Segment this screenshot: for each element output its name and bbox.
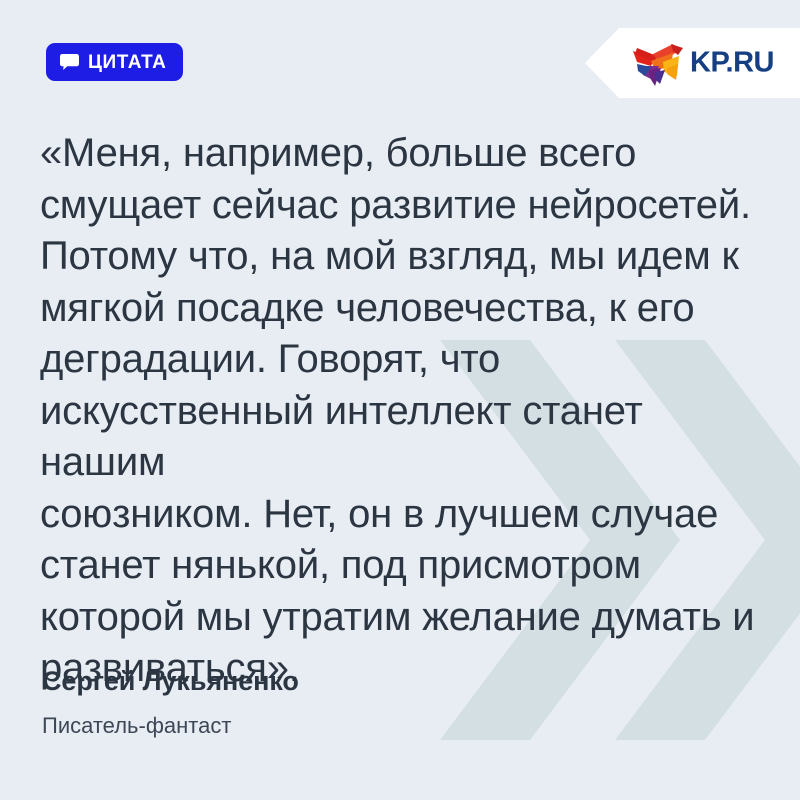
swallow-bird-icon [633, 42, 685, 86]
speech-bubble-icon [60, 54, 79, 70]
quote-badge: ЦИТАТА [46, 43, 183, 81]
quote-text: «Меня, например, больше всего смущает се… [40, 128, 755, 695]
author-role: Писатель-фантаст [42, 713, 299, 739]
author-name: Сергей Лукьяненко [42, 665, 299, 699]
attribution: Сергей Лукьяненко Писатель-фантаст [42, 665, 299, 739]
header: ЦИТАТА KP.RU [0, 0, 800, 110]
kp-logo-wordmark: KP.RU [690, 49, 774, 78]
quote-block: «Меня, например, больше всего смущает се… [40, 128, 755, 695]
quote-badge-label: ЦИТАТА [88, 53, 166, 72]
kp-logo-plate[interactable]: KP.RU [585, 28, 800, 98]
quote-card: ЦИТАТА KP.RU [0, 0, 800, 800]
